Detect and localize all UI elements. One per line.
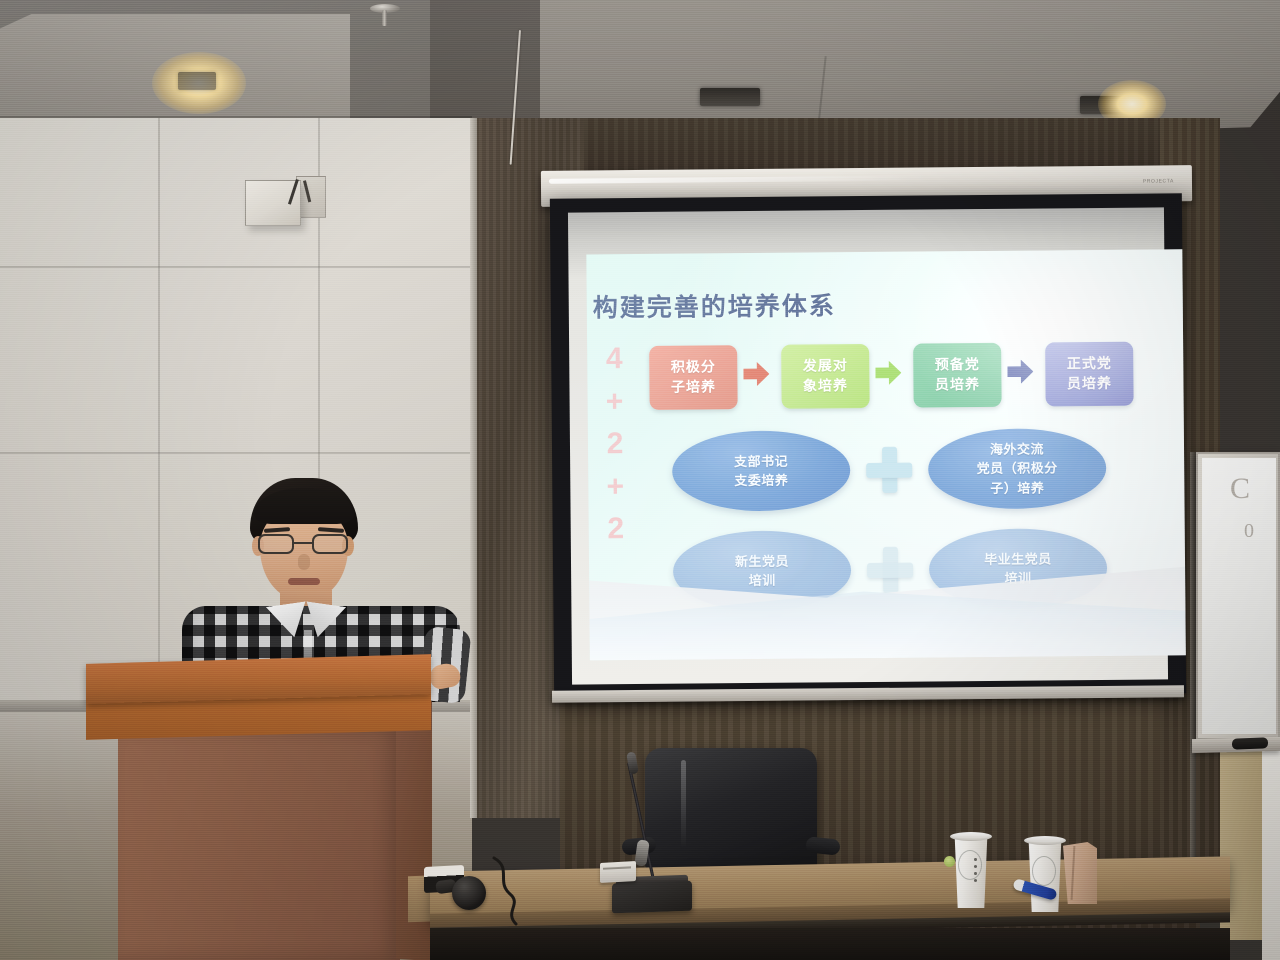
whiteboard-eraser[interactable] xyxy=(1232,737,1268,749)
side-number: 2 xyxy=(606,423,623,466)
ceiling-downlight xyxy=(178,72,216,90)
conference-room-photo: PROJECTA 构建完善的培养体系 4 + 2 + 2 积极分 子培养 xyxy=(0,0,1280,960)
flow-arrow-1 xyxy=(743,362,775,392)
flow-step-1-line2: 子培养 xyxy=(671,377,716,397)
wall-panel-seam xyxy=(158,118,160,714)
sprinkler-head-icon xyxy=(382,10,387,26)
oval-r1-b-line3: 子）培养 xyxy=(990,478,1044,498)
side-number: 4 xyxy=(606,338,623,381)
flow-step-3-line2: 员培养 xyxy=(935,375,980,395)
microphone-base[interactable] xyxy=(612,881,692,914)
oval-r1-b-line1: 海外交流 xyxy=(990,439,1044,459)
flow-step-1: 积极分 子培养 xyxy=(649,345,738,410)
cup-print-dots xyxy=(974,858,977,880)
table-underside xyxy=(430,928,1230,960)
flow-step-4-line1: 正式党 xyxy=(1067,354,1112,374)
chair-highlight xyxy=(681,760,686,848)
paper-bag[interactable] xyxy=(1063,842,1097,904)
whiteboard-surface[interactable]: C 0 xyxy=(1202,458,1276,734)
office-chair[interactable] xyxy=(645,748,817,870)
cup-sticker xyxy=(944,856,955,867)
wall-trim-strip xyxy=(470,118,477,818)
housing-highlight xyxy=(549,175,929,183)
oval-r1-a-line2: 支委培养 xyxy=(734,471,788,491)
table-device-puck[interactable] xyxy=(452,876,486,910)
lens-right xyxy=(312,534,348,554)
screen-surface: 构建完善的培养体系 4 + 2 + 2 积极分 子培养 xyxy=(568,207,1168,684)
lens-left xyxy=(258,534,294,554)
side-number: 2 xyxy=(607,509,624,552)
arrow-right-icon xyxy=(1007,360,1033,384)
flow-step-1-line1: 积极分 xyxy=(671,357,716,377)
whiteboard-scribble: C xyxy=(1230,472,1250,506)
flow-step-3-line1: 预备党 xyxy=(935,355,980,375)
plus-icon xyxy=(866,447,912,493)
housing-brand-label: PROJECTA xyxy=(1143,178,1174,184)
slide-flow-row: 积极分 子培养 发展对 象培养 预备党 员培养 xyxy=(649,337,1180,414)
flow-step-4-line2: 员培养 xyxy=(1067,374,1112,394)
cup-print-swirl xyxy=(1032,856,1056,886)
arrow-right-icon xyxy=(875,361,901,385)
right-wall-white xyxy=(1262,740,1280,960)
cup-print-swirl xyxy=(958,850,982,880)
oval-r2-b-line1: 毕业生党员 xyxy=(984,549,1052,569)
oval-r1-b-line2: 党员（积极分 xyxy=(977,459,1058,479)
arrow-right-icon xyxy=(743,362,769,386)
projection-screen: 构建完善的培养体系 4 + 2 + 2 积极分 子培养 xyxy=(550,193,1186,698)
flow-step-3: 预备党 员培养 xyxy=(913,343,1002,408)
whiteboard-scribble: 0 xyxy=(1244,520,1254,543)
oval-branch-secretary: 支部书记 支委培养 xyxy=(672,430,851,512)
flow-step-2: 发展对 象培养 xyxy=(781,344,870,409)
ceiling-downlight-off xyxy=(700,88,760,106)
glasses-bridge xyxy=(294,542,312,544)
whiteboard[interactable]: C 0 xyxy=(1196,452,1280,740)
side-plus: + xyxy=(606,381,624,424)
nose xyxy=(298,554,310,570)
wall-panel-seam xyxy=(0,266,472,268)
paper-cup-rim xyxy=(950,832,992,841)
flow-arrow-2 xyxy=(875,361,907,391)
side-plus: + xyxy=(606,466,624,509)
projected-slide: 构建完善的培养体系 4 + 2 + 2 积极分 子培养 xyxy=(586,249,1186,660)
table-device-white[interactable] xyxy=(600,861,636,883)
plus-icon xyxy=(867,547,913,593)
oval-r2-a-line2: 培训 xyxy=(749,571,776,591)
mouth xyxy=(288,578,320,585)
oval-r1-a-line1: 支部书记 xyxy=(734,451,788,471)
flow-arrow-3 xyxy=(1007,360,1039,390)
oval-r2-a-line1: 新生党员 xyxy=(735,551,789,571)
slide-oval-row-1: 支部书记 支委培养 海外交流 党员（积极分 子）培养 xyxy=(672,426,1143,514)
flow-step-2-line2: 象培养 xyxy=(803,376,848,396)
glasses-icon xyxy=(258,534,350,554)
oval-overseas-exchange: 海外交流 党员（积极分 子）培养 xyxy=(928,428,1107,510)
paper-cup-rim xyxy=(1024,836,1066,845)
slide-side-numbers: 4 + 2 + 2 xyxy=(597,338,633,551)
podium-body xyxy=(118,728,400,960)
cable-icon xyxy=(490,856,550,926)
slide-title: 构建完善的培养体系 xyxy=(593,286,836,324)
wall-panel-seam xyxy=(0,452,472,454)
flow-step-2-line1: 发展对 xyxy=(803,356,848,376)
flow-step-4: 正式党 员培养 xyxy=(1045,342,1134,407)
